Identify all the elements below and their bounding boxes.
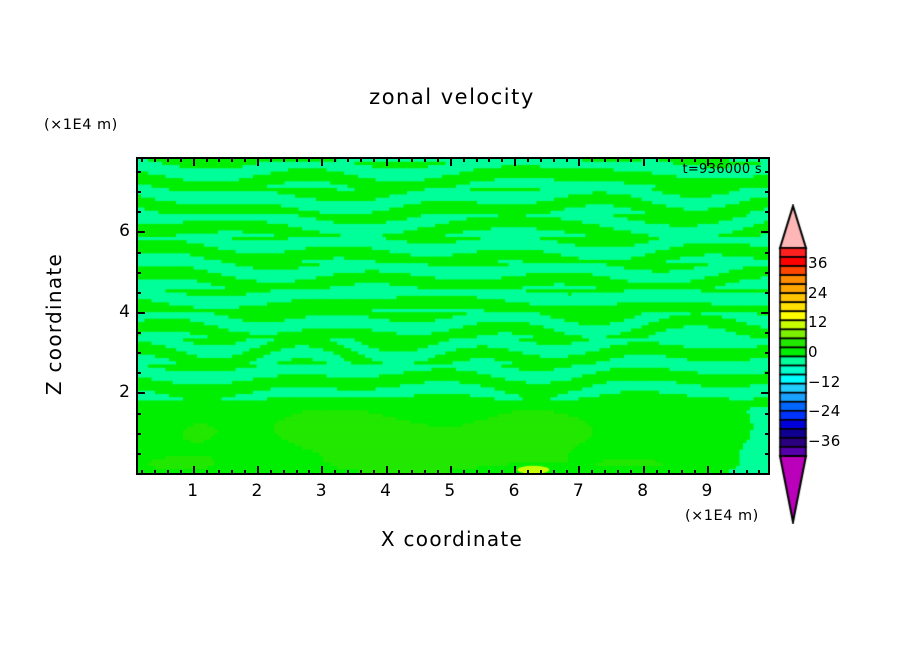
axis-tick	[630, 157, 632, 162]
axis-tick	[231, 470, 233, 475]
axis-tick	[308, 470, 310, 475]
axis-tick	[244, 157, 246, 162]
axis-tick	[761, 312, 770, 314]
axis-tick	[765, 433, 770, 435]
axis-tick	[296, 157, 298, 162]
axis-tick	[360, 470, 362, 475]
axis-tick	[206, 157, 208, 162]
axis-tick	[566, 470, 568, 475]
colorbar-tick-label: 24	[808, 284, 828, 302]
axis-tick	[488, 157, 490, 162]
axis-tick	[765, 352, 770, 354]
axis-tick	[386, 157, 388, 166]
plot-area: t=936000 s	[136, 157, 770, 475]
axis-tick	[180, 470, 182, 475]
axis-tick	[206, 470, 208, 475]
axis-tick	[136, 372, 141, 374]
axis-tick	[553, 470, 555, 475]
axis-tick	[218, 470, 220, 475]
axis-tick	[270, 470, 272, 475]
axis-tick	[450, 466, 452, 475]
axis-tick	[334, 157, 336, 162]
x-tick-label: 8	[637, 481, 648, 501]
axis-tick	[257, 466, 259, 475]
axis-tick	[244, 470, 246, 475]
axis-tick	[765, 191, 770, 193]
axis-tick	[373, 470, 375, 475]
contour-field	[138, 159, 768, 473]
axis-tick	[720, 470, 722, 475]
colorbar-gradient	[778, 204, 812, 524]
axis-tick	[463, 157, 465, 162]
axis-tick	[761, 392, 770, 394]
axis-tick	[136, 211, 141, 213]
x-axis-unit-label: (×1E4 m)	[685, 508, 759, 524]
axis-tick	[373, 157, 375, 162]
axis-tick	[360, 157, 362, 162]
axis-tick	[136, 272, 141, 274]
axis-tick	[154, 157, 156, 162]
axis-tick	[668, 470, 670, 475]
axis-tick	[283, 157, 285, 162]
axis-tick	[578, 157, 580, 166]
axis-tick	[527, 157, 529, 162]
axis-tick	[617, 470, 619, 475]
axis-tick	[308, 157, 310, 162]
axis-tick	[167, 470, 169, 475]
axis-tick	[411, 470, 413, 475]
axis-tick	[463, 470, 465, 475]
axis-tick	[218, 157, 220, 162]
colorbar-tick-label: −24	[808, 402, 841, 420]
axis-tick	[450, 157, 452, 166]
time-annotation: t=936000 s	[682, 162, 762, 177]
axis-tick	[758, 470, 760, 475]
axis-tick	[643, 466, 645, 475]
axis-tick	[141, 470, 143, 475]
axis-tick	[136, 413, 141, 415]
axis-tick	[334, 470, 336, 475]
colorbar-tick-label: −36	[808, 432, 841, 450]
axis-tick	[231, 157, 233, 162]
axis-tick	[765, 171, 770, 173]
axis-tick	[347, 470, 349, 475]
axis-tick	[643, 157, 645, 166]
axis-tick	[656, 157, 658, 162]
axis-tick	[270, 157, 272, 162]
x-tick-label: 5	[444, 481, 455, 501]
axis-tick	[656, 470, 658, 475]
colorbar-tick-label: −12	[808, 373, 841, 391]
colorbar-tick-label: 12	[808, 313, 828, 331]
axis-tick	[437, 157, 439, 162]
axis-tick	[617, 157, 619, 162]
axis-tick	[136, 392, 145, 394]
axis-tick	[694, 470, 696, 475]
axis-tick	[136, 171, 141, 173]
axis-tick	[681, 470, 683, 475]
axis-tick	[321, 466, 323, 475]
y-tick-label: 4	[112, 302, 130, 322]
y-axis-title: Z coordinate	[42, 234, 66, 414]
x-tick-label: 9	[702, 481, 713, 501]
axis-tick	[765, 292, 770, 294]
colorbar-tick-label: 36	[808, 254, 828, 272]
axis-tick	[136, 332, 141, 334]
x-tick-label: 6	[509, 481, 520, 501]
axis-tick	[540, 470, 542, 475]
axis-tick	[765, 211, 770, 213]
axis-tick	[630, 470, 632, 475]
axis-tick	[398, 157, 400, 162]
axis-tick	[591, 470, 593, 475]
axis-tick	[707, 466, 709, 475]
axis-tick	[765, 372, 770, 374]
axis-tick	[746, 470, 748, 475]
axis-tick	[193, 157, 195, 166]
colorbar: 3624120−12−24−36	[778, 204, 898, 524]
axis-tick	[765, 332, 770, 334]
axis-tick	[136, 352, 141, 354]
axis-tick	[514, 157, 516, 166]
axis-tick	[257, 157, 259, 166]
axis-tick	[488, 470, 490, 475]
y-tick-label: 2	[112, 382, 130, 402]
axis-tick	[765, 272, 770, 274]
axis-tick	[527, 470, 529, 475]
axis-tick	[604, 470, 606, 475]
axis-tick	[167, 157, 169, 162]
axis-tick	[154, 470, 156, 475]
axis-tick	[398, 470, 400, 475]
page-title: zonal velocity	[0, 85, 904, 109]
axis-tick	[765, 413, 770, 415]
x-tick-label: 4	[380, 481, 391, 501]
axis-tick	[761, 231, 770, 233]
axis-tick	[566, 157, 568, 162]
axis-tick	[136, 312, 145, 314]
x-tick-label: 3	[316, 481, 327, 501]
axis-tick	[540, 157, 542, 162]
axis-tick	[136, 292, 141, 294]
x-tick-label: 7	[573, 481, 584, 501]
axis-tick	[136, 191, 141, 193]
axis-tick	[136, 231, 145, 233]
axis-tick	[386, 466, 388, 475]
axis-tick	[180, 157, 182, 162]
x-tick-label: 1	[187, 481, 198, 501]
axis-tick	[476, 470, 478, 475]
axis-tick	[578, 466, 580, 475]
axis-tick	[765, 453, 770, 455]
axis-tick	[141, 157, 143, 162]
axis-tick	[765, 252, 770, 254]
y-tick-label: 6	[112, 221, 130, 241]
axis-tick	[437, 470, 439, 475]
axis-tick	[193, 466, 195, 475]
axis-tick	[514, 466, 516, 475]
axis-tick	[136, 453, 141, 455]
axis-tick	[501, 157, 503, 162]
axis-tick	[591, 157, 593, 162]
axis-tick	[321, 157, 323, 166]
axis-tick	[296, 470, 298, 475]
axis-tick	[668, 157, 670, 162]
axis-tick	[604, 157, 606, 162]
axis-tick	[347, 157, 349, 162]
axis-tick	[553, 157, 555, 162]
axis-tick	[476, 157, 478, 162]
axis-tick	[424, 157, 426, 162]
axis-tick	[136, 433, 141, 435]
colorbar-tick-label: 0	[808, 343, 818, 361]
axis-tick	[424, 470, 426, 475]
axis-tick	[733, 470, 735, 475]
figure-canvas: zonal velocity (×1E4 m) (×1E4 m) t=93600…	[0, 0, 904, 654]
y-axis-unit-label: (×1E4 m)	[44, 117, 118, 133]
axis-tick	[136, 252, 141, 254]
axis-tick	[501, 470, 503, 475]
x-tick-label: 2	[252, 481, 263, 501]
axis-tick	[283, 470, 285, 475]
axis-tick	[411, 157, 413, 162]
x-axis-title: X coordinate	[0, 527, 904, 551]
